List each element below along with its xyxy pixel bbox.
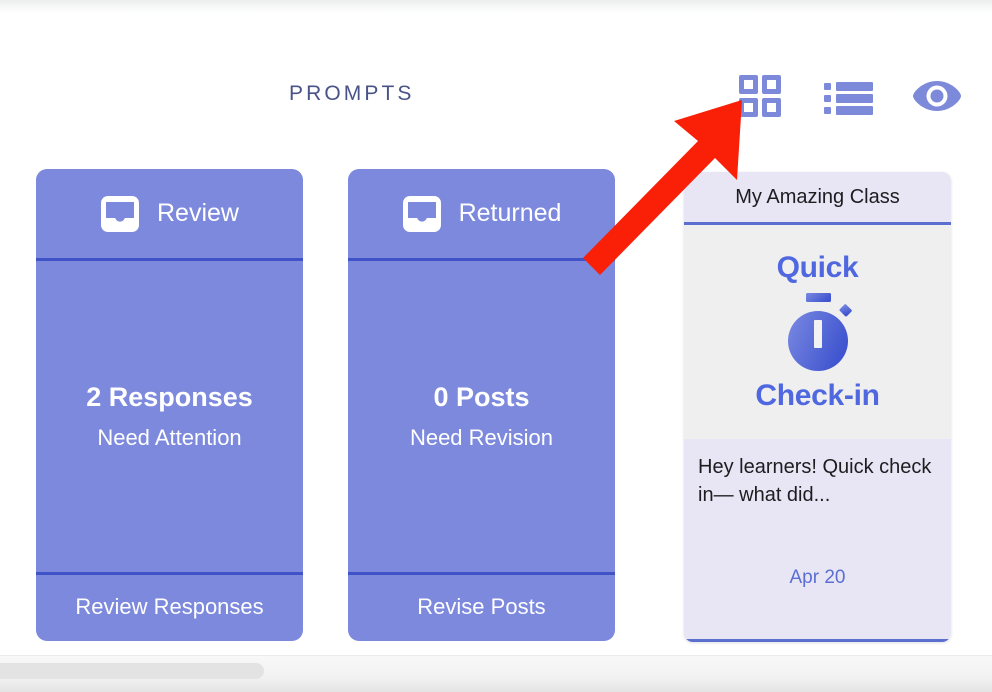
stat-card-body: 2 Responses Need Attention — [36, 261, 303, 575]
stat-card-header: Review — [36, 169, 303, 261]
message-icon — [402, 194, 442, 234]
eye-icon — [911, 108, 963, 123]
stat-card-returned[interactable]: Returned 0 Posts Need Revision Revise Po… — [348, 169, 615, 641]
stat-card-title: Returned — [459, 199, 562, 228]
class-name-label: My Amazing Class — [735, 186, 900, 209]
stat-card-review[interactable]: Review 2 Responses Need Attention Review… — [36, 169, 303, 641]
page-title: PROMPTS — [289, 82, 415, 106]
preview-button[interactable] — [911, 72, 963, 120]
prompt-date: Apr 20 — [684, 567, 951, 589]
window-top-gradient — [0, 0, 992, 14]
review-responses-button[interactable]: Review Responses — [36, 575, 303, 638]
prompt-card[interactable]: My Amazing Class Quick Check-in Hey lear… — [684, 172, 951, 642]
stat-count: 2 Responses — [86, 382, 253, 413]
stat-card-title: Review — [157, 199, 239, 228]
prompt-body: Hey learners! Quick check in— what did..… — [684, 439, 951, 642]
grid-icon — [736, 108, 784, 123]
stat-card-header: Returned — [348, 169, 615, 261]
horizontal-scrollbar-track[interactable] — [0, 655, 992, 692]
thumbnail-line-2: Check-in — [755, 379, 879, 413]
horizontal-scrollbar-thumb[interactable] — [0, 663, 264, 679]
prompt-text: Hey learners! Quick check in— what did..… — [698, 453, 937, 509]
stopwatch-icon — [773, 289, 863, 375]
prompt-thumbnail: Quick Check-in — [684, 225, 951, 439]
stat-count: 0 Posts — [433, 382, 529, 413]
list-view-button[interactable] — [822, 72, 876, 120]
stat-subtitle: Need Attention — [97, 425, 241, 451]
grid-view-button[interactable] — [736, 72, 784, 120]
message-icon — [100, 194, 140, 234]
stat-card-body: 0 Posts Need Revision — [348, 261, 615, 575]
page-header: PROMPTS — [0, 14, 992, 150]
revise-posts-button[interactable]: Revise Posts — [348, 575, 615, 638]
prompt-card-header: My Amazing Class — [684, 172, 951, 225]
stat-subtitle: Need Revision — [410, 425, 553, 451]
thumbnail-line-1: Quick — [777, 251, 859, 285]
list-icon — [822, 108, 876, 123]
